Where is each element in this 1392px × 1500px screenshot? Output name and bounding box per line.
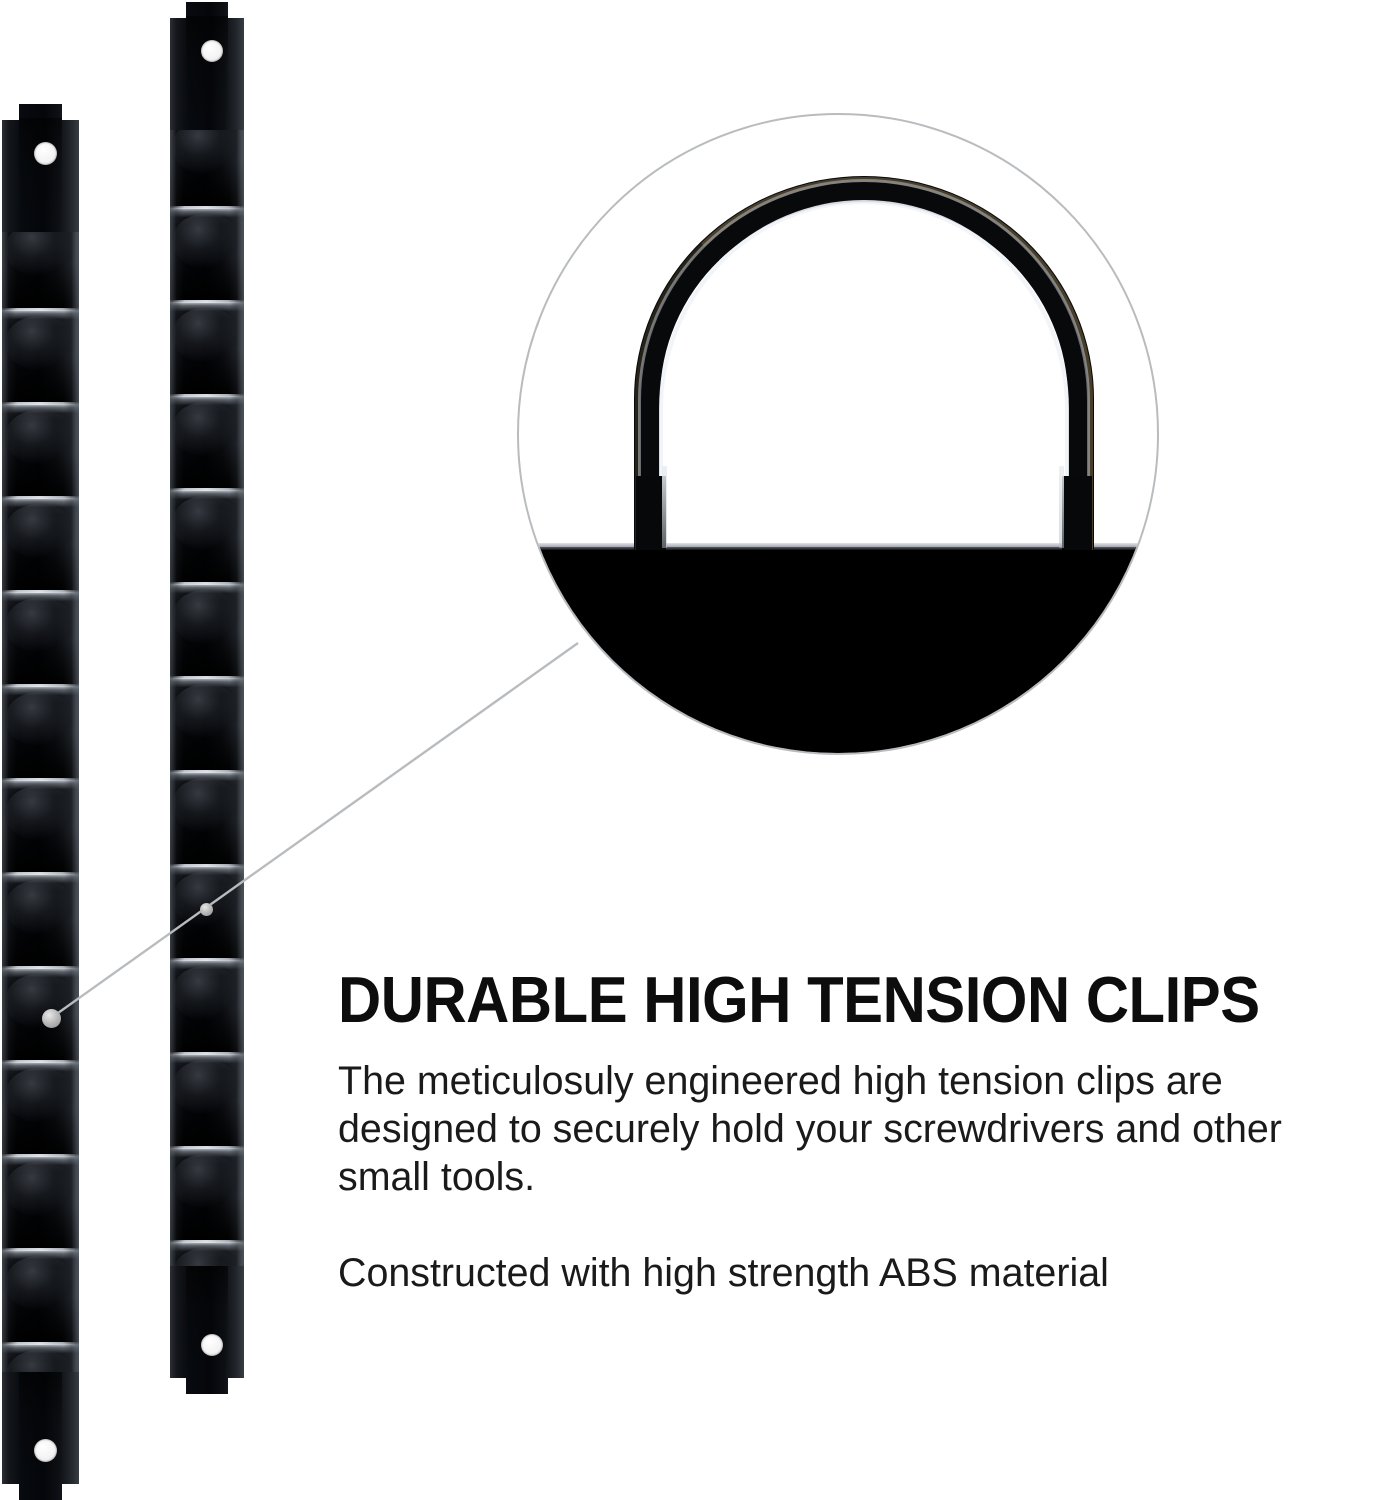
clip-seam-highlight — [173, 958, 240, 961]
mounting-tab-bottom — [2, 1372, 79, 1500]
tension-clip — [170, 206, 244, 300]
clip-arch-foot-sheen-left — [662, 466, 667, 548]
tension-clip — [170, 488, 244, 582]
tab-notch-left — [2, 1484, 19, 1500]
tension-clip — [2, 966, 79, 1060]
rail-clip-strip — [170, 112, 244, 1284]
screw-hole-icon — [34, 1439, 57, 1462]
clip-seam-highlight — [173, 300, 240, 303]
tension-clip — [170, 676, 244, 770]
tension-clip — [2, 1154, 79, 1248]
clip-seam-highlight — [5, 1248, 75, 1251]
material-note: Constructed with high strength ABS mater… — [338, 1249, 1362, 1297]
screw-hole-icon — [34, 142, 57, 165]
tension-clip — [170, 394, 244, 488]
clip-seam-highlight — [173, 1146, 240, 1149]
tension-clip — [2, 1248, 79, 1342]
mounting-tab-top — [170, 2, 244, 130]
tab-notch-left — [170, 2, 186, 18]
clip-seam-highlight — [5, 1154, 75, 1157]
product-feature-graphic: DURABLE HIGH TENSION CLIPS The meticulos… — [0, 0, 1392, 1500]
feature-copy-block: DURABLE HIGH TENSION CLIPS The meticulos… — [338, 965, 1378, 1297]
clip-seam-highlight — [173, 206, 240, 209]
tab-recess — [186, 16, 227, 130]
tab-notch-right — [228, 2, 244, 18]
tab-recess — [19, 118, 62, 232]
clip-arch-foot-sheen-right — [1059, 466, 1064, 548]
clip-seam-highlight — [173, 1052, 240, 1055]
tab-notch-right — [62, 104, 79, 120]
clip-seam-highlight — [5, 778, 75, 781]
tension-clip — [2, 1060, 79, 1154]
tension-clip — [170, 1052, 244, 1146]
screw-hole-icon — [201, 40, 223, 62]
clip-seam-highlight — [173, 770, 240, 773]
tension-clip — [170, 582, 244, 676]
tab-recess — [186, 1266, 227, 1380]
tension-clip — [2, 496, 79, 590]
tab-recess — [19, 1372, 62, 1486]
tension-clip — [2, 872, 79, 966]
magnifier-circle-icon — [517, 113, 1159, 755]
page-title: DURABLE HIGH TENSION CLIPS — [338, 965, 1295, 1035]
mounting-tab-bottom — [170, 1266, 244, 1394]
screwdriver-rail-back — [170, 2, 244, 1394]
callout-dot-icon — [200, 903, 213, 916]
feature-description: The meticulosuly engineered high tension… — [338, 1057, 1362, 1201]
tab-notch-left — [2, 104, 19, 120]
clip-seam-highlight — [173, 676, 240, 679]
tab-notch-right — [62, 1484, 79, 1500]
tab-notch-right — [228, 1378, 244, 1394]
screwdriver-rail-front — [2, 104, 79, 1500]
tension-clip — [170, 1146, 244, 1240]
tension-clip — [2, 308, 79, 402]
clip-seam-highlight — [173, 488, 240, 491]
clip-seam-highlight — [173, 1240, 240, 1243]
clip-seam-highlight — [5, 966, 75, 969]
rail-base-closeup — [517, 547, 1159, 755]
tension-clip — [170, 770, 244, 864]
clip-seam-highlight — [5, 684, 75, 687]
tab-notch-left — [170, 1378, 186, 1394]
rail-clip-strip — [2, 214, 79, 1390]
clip-seam-highlight — [5, 590, 75, 593]
tension-clip — [2, 684, 79, 778]
clip-seam-highlight — [173, 582, 240, 585]
clip-seam-highlight — [173, 864, 240, 867]
callout-dot-icon — [42, 1009, 61, 1028]
clip-seam-highlight — [5, 402, 75, 405]
clip-arch-foot-right — [1062, 476, 1092, 550]
clip-seam-highlight — [5, 308, 75, 311]
clip-seam-highlight — [5, 496, 75, 499]
screw-hole-icon — [201, 1334, 223, 1356]
mounting-tab-top — [2, 104, 79, 232]
tension-clip — [2, 778, 79, 872]
clip-seam-highlight — [5, 872, 75, 875]
clip-seam-highlight — [173, 394, 240, 397]
tension-clip — [2, 402, 79, 496]
clip-seam-highlight — [5, 1060, 75, 1063]
tension-clip — [170, 300, 244, 394]
tension-clip — [2, 590, 79, 684]
clip-seam-highlight — [5, 1342, 75, 1345]
tension-clip — [170, 958, 244, 1052]
